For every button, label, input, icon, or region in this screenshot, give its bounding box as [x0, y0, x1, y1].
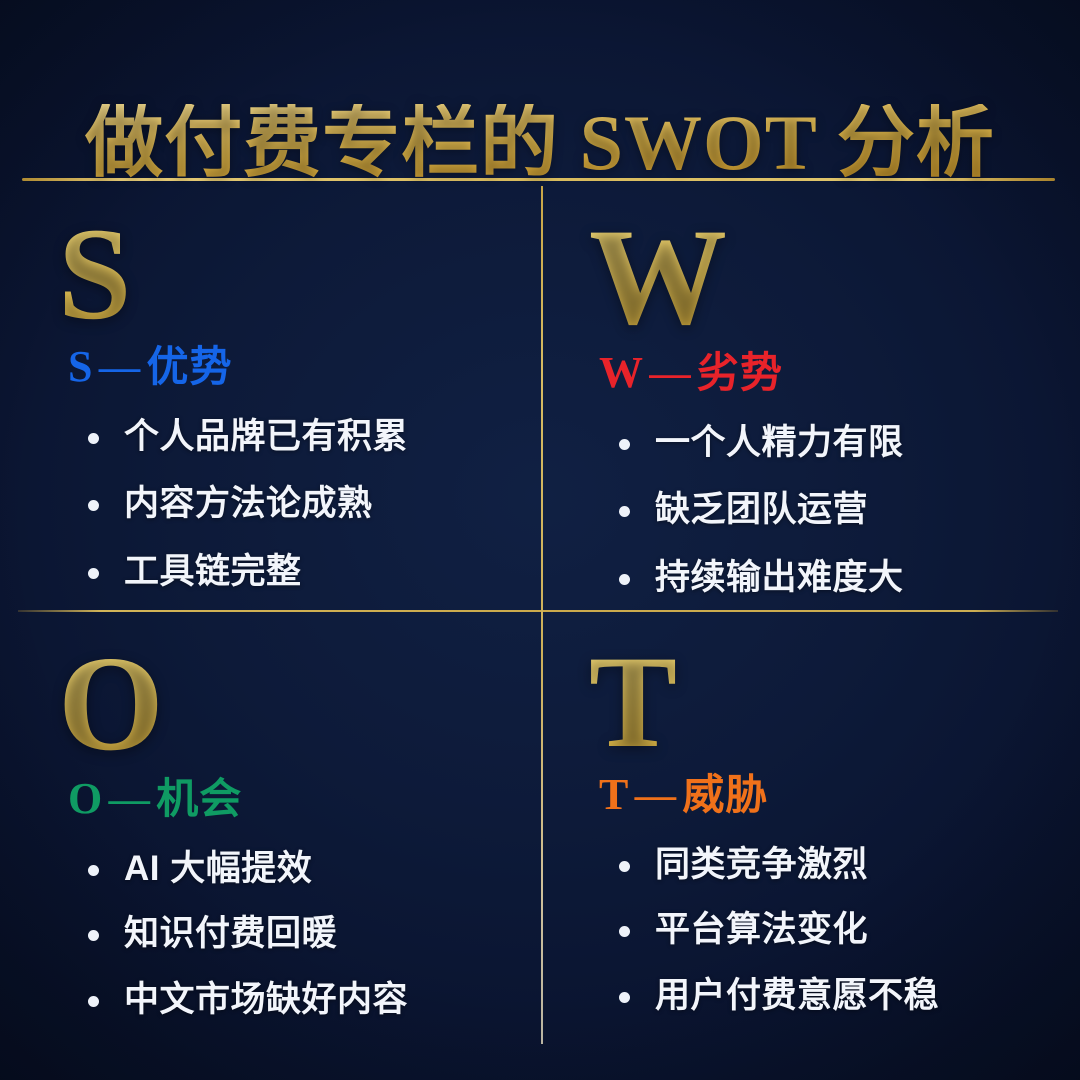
bullet-list-opportunities: AI 大幅提效 知识付费回暖 中文市场缺好内容 — [80, 848, 541, 1020]
quadrant-threats: T T—威胁 同类竞争激烈 平台算法变化 用户付费意愿不稳 — [543, 614, 1080, 1044]
swot-grid: S S—优势 个人品牌已有积累 内容方法论成熟 工具链完整 W W—劣势 一个人… — [0, 0, 1080, 1080]
subtitle-word-strengths: 优势 — [146, 343, 232, 390]
subtitle-letter-w: W — [599, 348, 643, 397]
subtitle-word-weaknesses: 劣势 — [697, 349, 783, 396]
list-item-label: 工具链完整 — [124, 552, 302, 591]
bullet-dot-icon — [619, 439, 630, 450]
bullet-dot-icon — [88, 930, 99, 941]
bullet-dot-icon — [88, 568, 99, 579]
bullet-dot-icon — [88, 865, 99, 876]
list-item: AI 大幅提效 — [80, 848, 541, 889]
quadrant-subtitle-opportunities: O—机会 — [68, 776, 541, 822]
subtitle-word-threats: 威胁 — [682, 771, 768, 818]
bullet-dot-icon — [88, 500, 99, 511]
quadrant-subtitle-weaknesses: W—劣势 — [599, 350, 1080, 396]
list-item: 平台算法变化 — [611, 909, 1080, 950]
list-item-label: 中文市场缺好内容 — [124, 980, 408, 1019]
subtitle-word-opportunities: 机会 — [156, 775, 242, 822]
quadrant-letter-w: W — [589, 186, 1080, 346]
bullet-dot-icon — [619, 861, 630, 872]
bullet-dot-icon — [88, 996, 99, 1007]
list-item-label: 持续输出难度大 — [655, 558, 904, 597]
list-item: 知识付费回暖 — [80, 913, 541, 954]
subtitle-dash-s: — — [92, 343, 146, 390]
subtitle-dash-t: — — [628, 771, 682, 818]
list-item: 个人品牌已有积累 — [80, 416, 541, 457]
quadrant-letter-t: T — [589, 614, 1080, 768]
subtitle-dash-w: — — [643, 349, 697, 396]
list-item: 用户付费意愿不稳 — [611, 975, 1080, 1016]
quadrant-letter-o: O — [58, 614, 541, 772]
list-item: 同类竞争激烈 — [611, 844, 1080, 885]
list-item: 工具链完整 — [80, 551, 541, 592]
list-item: 内容方法论成熟 — [80, 483, 541, 524]
list-item: 缺乏团队运营 — [611, 489, 1080, 530]
subtitle-dash-o: — — [102, 775, 156, 822]
list-item-label: 缺乏团队运营 — [655, 490, 868, 529]
list-item: 中文市场缺好内容 — [80, 979, 541, 1020]
subtitle-letter-o: O — [68, 774, 102, 823]
quadrant-opportunities: O O—机会 AI 大幅提效 知识付费回暖 中文市场缺好内容 — [0, 614, 541, 1044]
quadrant-subtitle-threats: T—威胁 — [599, 772, 1080, 818]
bullet-list-threats: 同类竞争激烈 平台算法变化 用户付费意愿不稳 — [611, 844, 1080, 1016]
subtitle-letter-t: T — [599, 770, 628, 819]
list-item-label: AI 大幅提效 — [124, 849, 312, 888]
quadrant-strengths: S S—优势 个人品牌已有积累 内容方法论成熟 工具链完整 — [0, 186, 541, 610]
list-item-label: 平台算法变化 — [655, 910, 868, 949]
bullet-dot-icon — [619, 574, 630, 585]
quadrant-subtitle-strengths: S—优势 — [68, 344, 541, 390]
list-item: 一个人精力有限 — [611, 422, 1080, 463]
bullet-list-strengths: 个人品牌已有积累 内容方法论成熟 工具链完整 — [80, 416, 541, 592]
list-item-label: 用户付费意愿不稳 — [655, 976, 939, 1015]
quadrant-weaknesses: W W—劣势 一个人精力有限 缺乏团队运营 持续输出难度大 — [543, 186, 1080, 610]
list-item-label: 个人品牌已有积累 — [124, 417, 408, 456]
quadrant-letter-s: S — [58, 186, 541, 340]
list-item-label: 同类竞争激烈 — [655, 845, 868, 884]
bullet-dot-icon — [88, 433, 99, 444]
list-item: 持续输出难度大 — [611, 557, 1080, 598]
list-item-label: 知识付费回暖 — [124, 914, 337, 953]
list-item-label: 内容方法论成熟 — [124, 484, 373, 523]
bullet-dot-icon — [619, 506, 630, 517]
list-item-label: 一个人精力有限 — [655, 423, 904, 462]
swot-poster: 做付费专栏的 SWOT 分析 S S—优势 个人品牌已有积累 内容方法论成熟 工… — [0, 0, 1080, 1080]
bullet-dot-icon — [619, 926, 630, 937]
subtitle-letter-s: S — [68, 342, 92, 391]
bullet-dot-icon — [619, 992, 630, 1003]
bullet-list-weaknesses: 一个人精力有限 缺乏团队运营 持续输出难度大 — [611, 422, 1080, 598]
